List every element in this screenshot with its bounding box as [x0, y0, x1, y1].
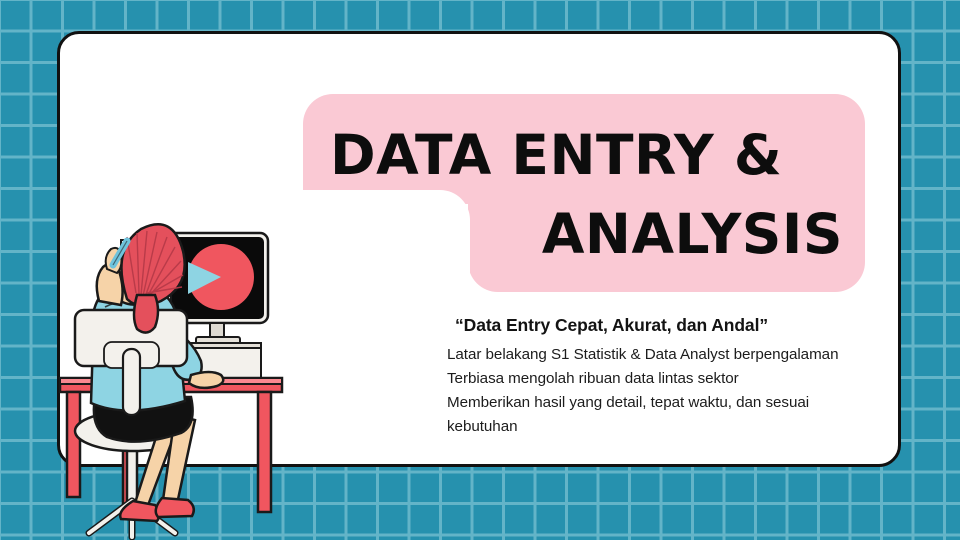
body-line-3: Memberikan hasil yang detail, tepat wakt… — [447, 391, 887, 415]
slide-canvas: DATA ENTRY & ANALYSIS “Data Entry Cepat,… — [0, 0, 960, 540]
hair-tail — [134, 295, 158, 333]
body-line-1: Latar belakang S1 Statistik & Data Analy… — [447, 343, 887, 367]
hand-right — [189, 372, 223, 388]
illustration-woman-at-desk — [55, 215, 375, 540]
title-block: DATA ENTRY & ANALYSIS — [303, 94, 865, 292]
body-line-2: Terbiasa mengolah ribuan data lintas sek… — [447, 367, 887, 391]
sneaker-right — [156, 498, 194, 517]
title-text-group: DATA ENTRY & ANALYSIS — [303, 94, 865, 292]
tagline: “Data Entry Cepat, Akurat, dan Andal” — [447, 315, 887, 336]
description-block: “Data Entry Cepat, Akurat, dan Andal” La… — [447, 315, 887, 439]
body-line-4: kebutuhan — [447, 415, 887, 439]
page-title-line-1: DATA ENTRY & — [303, 128, 865, 183]
page-title-line-2: ANALYSIS — [303, 207, 865, 262]
